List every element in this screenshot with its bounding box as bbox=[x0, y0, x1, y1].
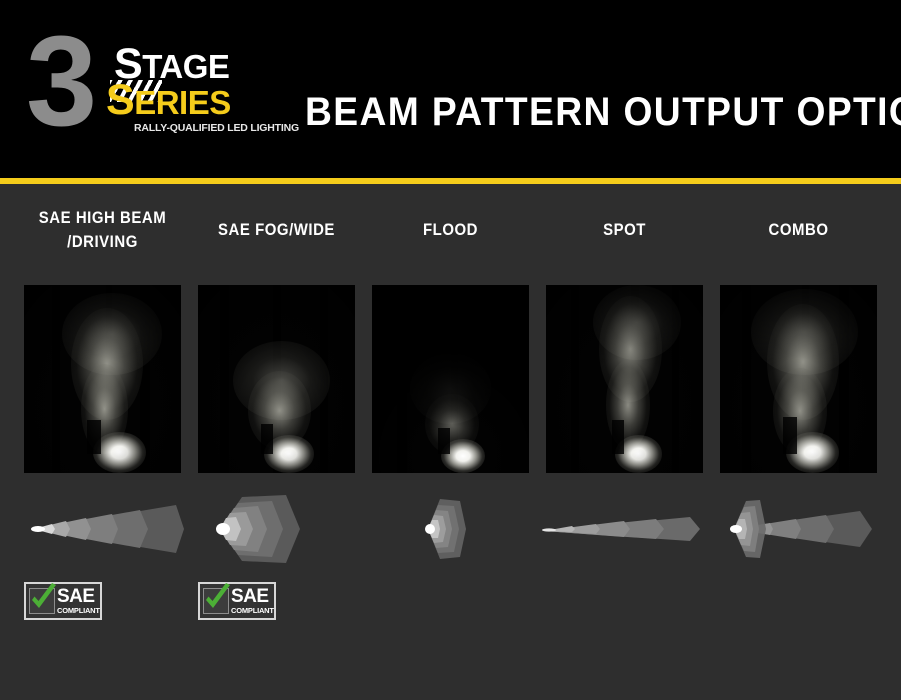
column-sae-high-beam-driving: SAE HIGH BEAM /DRIVING bbox=[16, 184, 189, 700]
logo-series-cap: S bbox=[106, 76, 134, 124]
badge-compliant-label: COMPLIANT bbox=[231, 607, 274, 615]
check-icon bbox=[203, 588, 229, 614]
beam-photo-spot bbox=[546, 285, 703, 473]
beam-diagram-wide-short bbox=[190, 489, 363, 569]
column-sae-fog-wide: SAE FOG/WIDE bbox=[190, 184, 363, 700]
column-label: SAE FOG/WIDE bbox=[200, 218, 352, 242]
beam-photo-sae-high-beam-driving bbox=[24, 285, 181, 473]
check-icon bbox=[29, 588, 55, 614]
sae-compliant-badge: SAE COMPLIANT bbox=[198, 582, 276, 620]
column-label: SPOT bbox=[548, 218, 700, 242]
logo-series-rest: ERIES bbox=[134, 84, 231, 121]
column-label: FLOOD bbox=[374, 218, 526, 242]
badge-sae-label: SAE bbox=[231, 587, 274, 606]
sae-compliant-badge: SAE COMPLIANT bbox=[24, 582, 102, 620]
beam-diagram-round-compact bbox=[364, 489, 537, 569]
beam-pattern-infographic: 3 STAGE SERIES RALLY-QUALIFIED LED LIGHT… bbox=[0, 0, 901, 700]
page-title: BEAM PATTERN OUTPUT OPTIONS bbox=[305, 90, 901, 135]
logo-word-series: SERIES bbox=[106, 84, 231, 119]
column-label: COMBO bbox=[722, 218, 874, 242]
header-bar: 3 STAGE SERIES RALLY-QUALIFIED LED LIGHT… bbox=[0, 0, 901, 178]
logo-stage-rest: TAGE bbox=[142, 48, 229, 85]
beam-diagram-long-narrow bbox=[16, 489, 189, 569]
beam-options-grid: SAE HIGH BEAM /DRIVING bbox=[0, 184, 901, 700]
beam-diagram-wide-plus-long bbox=[712, 489, 885, 569]
beam-photo-flood bbox=[372, 285, 529, 473]
badge-compliant-label: COMPLIANT bbox=[57, 607, 100, 615]
brand-logo: 3 STAGE SERIES RALLY-QUALIFIED LED LIGHT… bbox=[26, 32, 288, 137]
column-label: SAE HIGH BEAM /DRIVING bbox=[26, 206, 178, 254]
beam-diagram-very-narrow-long bbox=[538, 489, 711, 569]
logo-tagline: RALLY-QUALIFIED LED LIGHTING bbox=[134, 122, 299, 134]
beam-photo-combo bbox=[720, 285, 877, 473]
beam-photo-sae-fog-wide bbox=[198, 285, 355, 473]
column-combo: COMBO bbox=[712, 184, 885, 700]
column-flood: FLOOD bbox=[364, 184, 537, 700]
column-spot: SPOT bbox=[538, 184, 711, 700]
badge-sae-label: SAE bbox=[57, 587, 100, 606]
